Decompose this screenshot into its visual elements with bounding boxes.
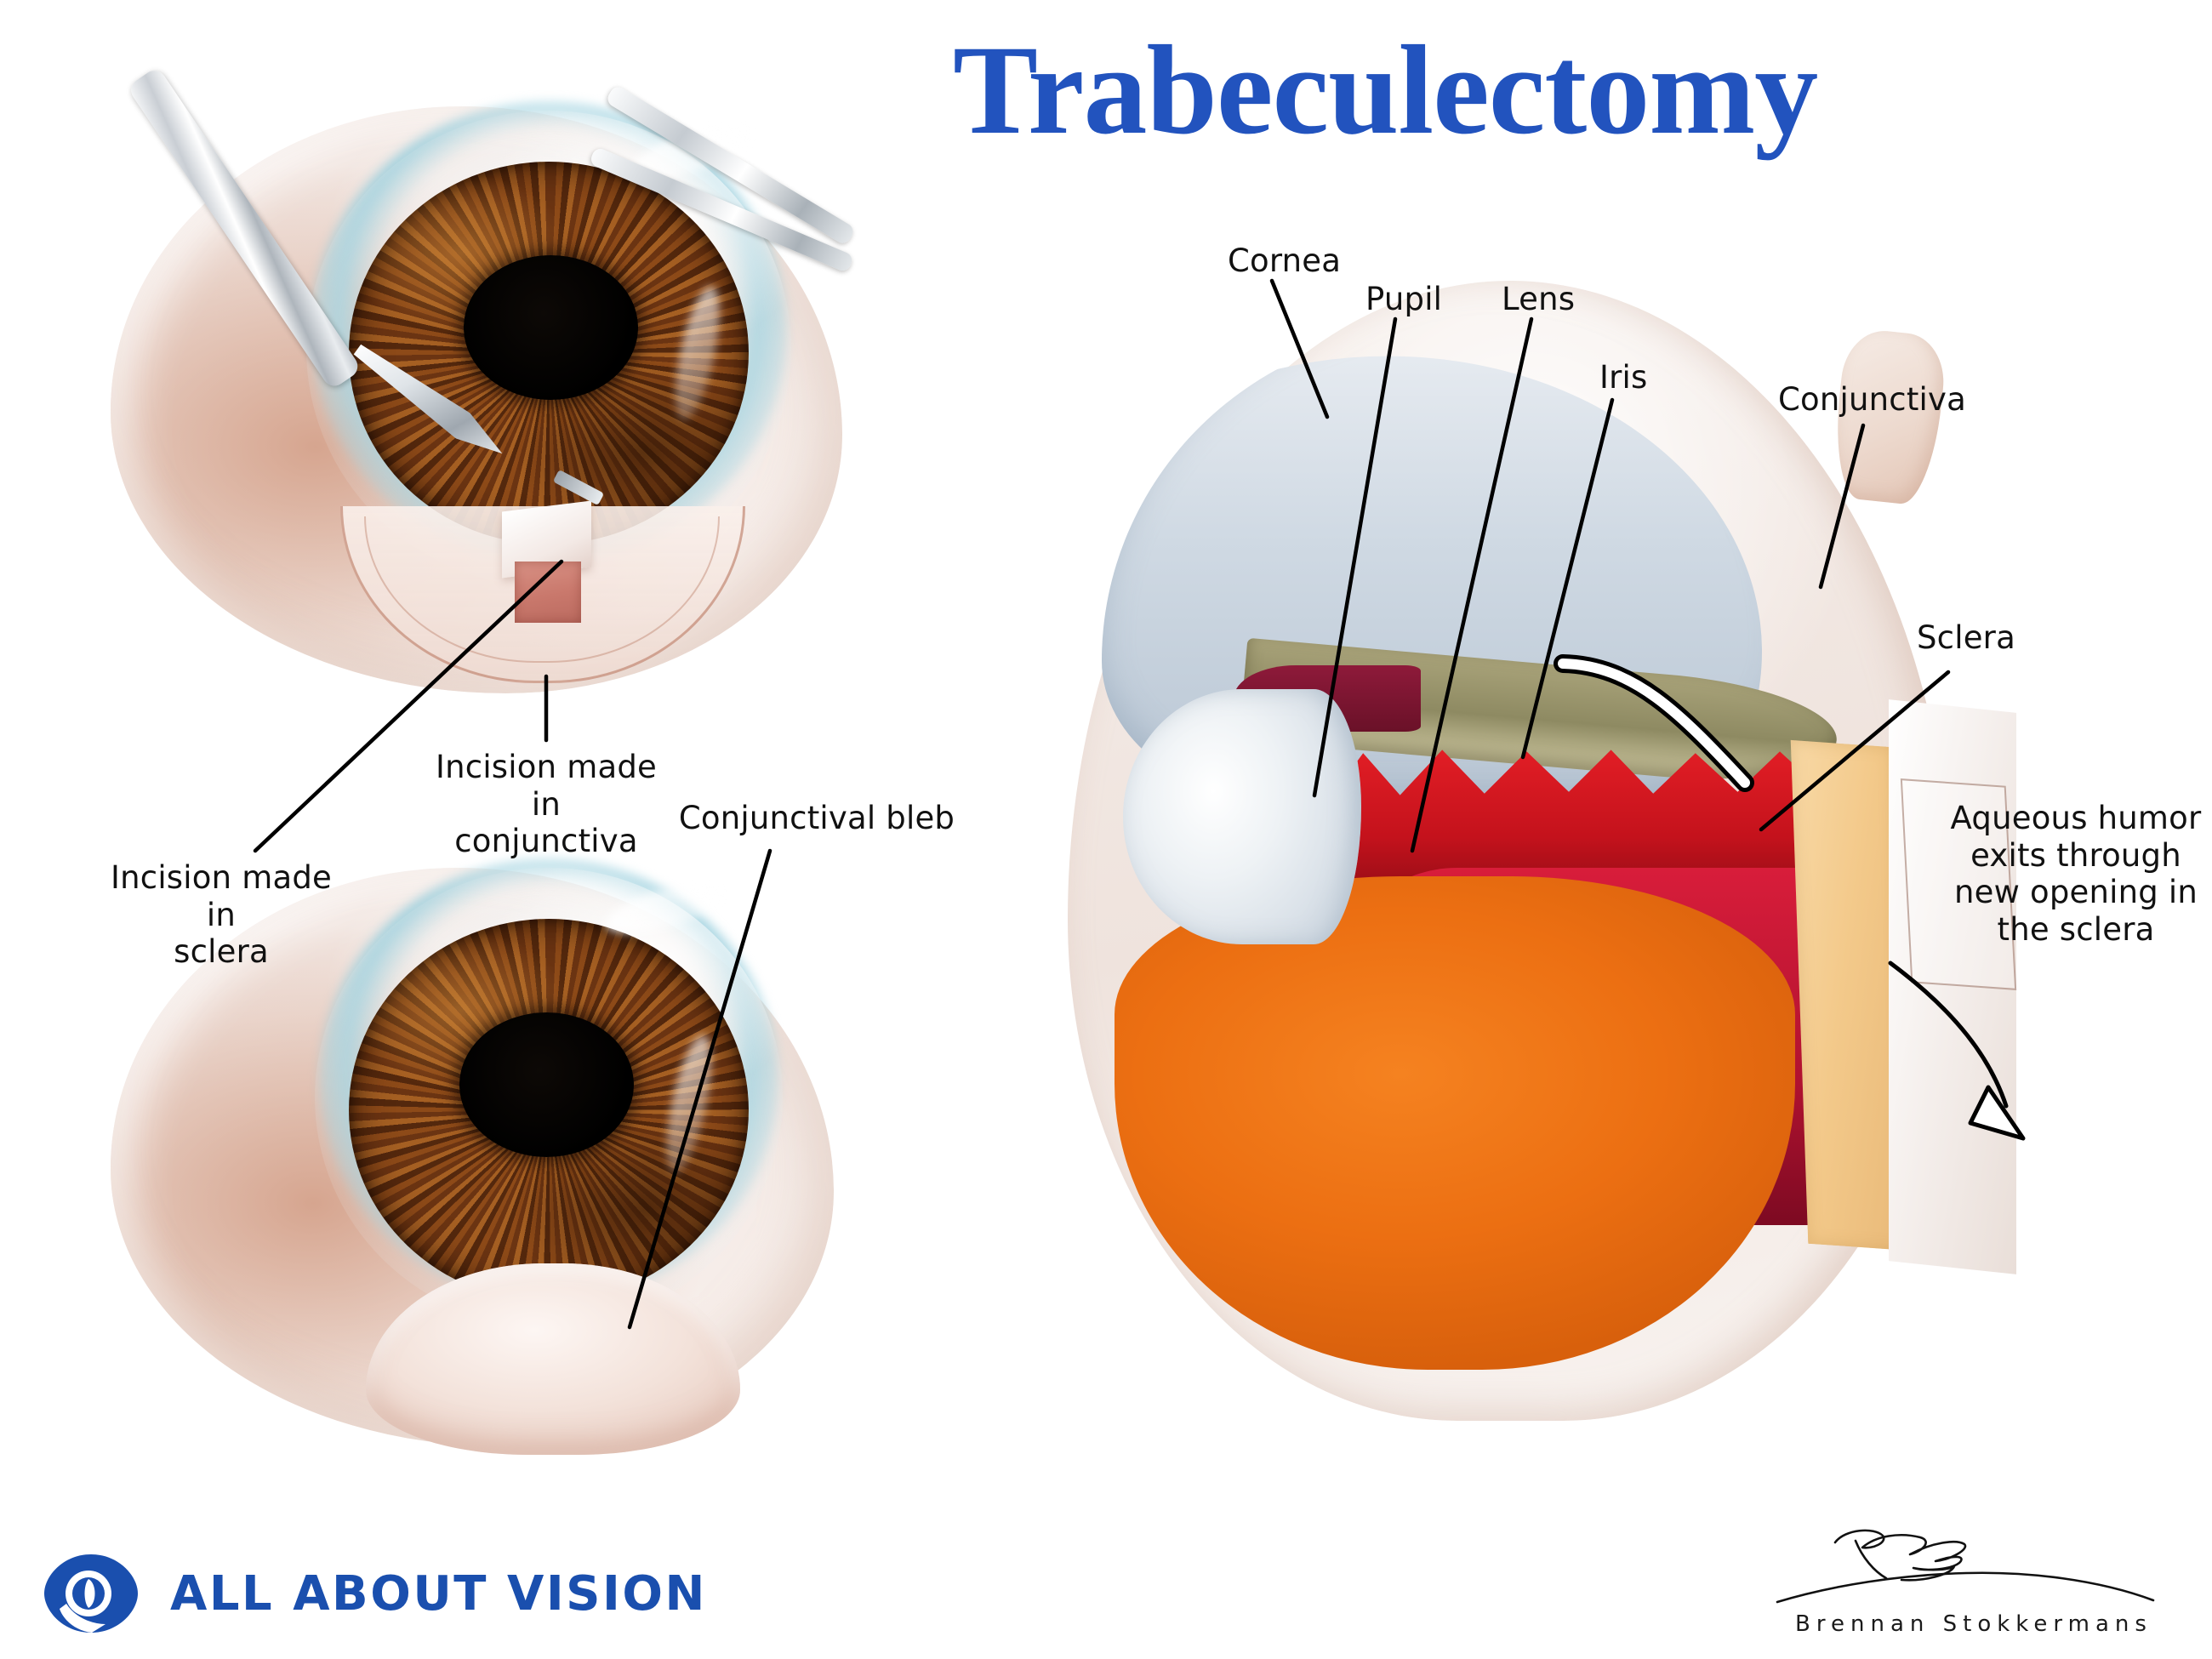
label-incision-conjunctiva: Incision made in conjunctiva (419, 749, 674, 860)
top-left-eye-illustration (94, 81, 859, 702)
signature-name: Brennan Stokkermans (1774, 1611, 2174, 1637)
signature-scrawl-icon (1774, 1519, 2174, 1612)
lens-cross-section (1123, 689, 1361, 944)
label-lens: Lens (1502, 281, 1575, 318)
label-cornea: Cornea (1228, 242, 1341, 280)
logo-wordmark: ALL ABOUT VISION (170, 1566, 707, 1622)
label-iris: Iris (1599, 359, 1647, 396)
all-about-vision-logo[interactable]: ALL ABOUT VISION (41, 1547, 807, 1640)
illustration-canvas: Trabeculectomy (0, 0, 2212, 1659)
label-sclera: Sclera (1917, 619, 2015, 657)
page-title: Trabeculectomy (953, 24, 2144, 158)
label-aqueous-humor: Aqueous humor exits through new opening … (1944, 800, 2208, 949)
label-incision-sclera: Incision made in sclera (94, 859, 349, 971)
label-conjunctiva: Conjunctiva (1778, 381, 1966, 419)
cross-section-illustration (1068, 281, 2029, 1438)
artist-signature: Brennan Stokkermans (1774, 1519, 2174, 1646)
sclerostomy-window-top (515, 562, 581, 623)
label-conjunctival-bleb: Conjunctival bleb (672, 800, 961, 837)
eye-icon (41, 1551, 141, 1636)
label-pupil: Pupil (1365, 281, 1442, 318)
pupil-top (464, 255, 638, 400)
pupil-bottom (459, 1012, 634, 1157)
